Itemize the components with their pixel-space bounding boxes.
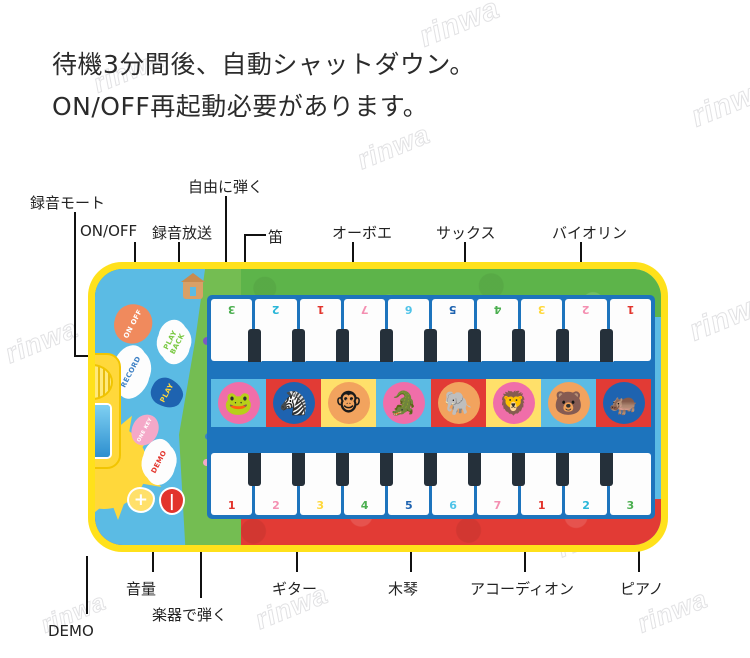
button-volume-up[interactable]: + [127,487,155,513]
callout-violin: バイオリン [552,222,627,243]
callout-volume: 音量 [126,578,156,599]
on-off-label: ON OFF [122,308,144,340]
zebra-guitar-icon: 🦓 [273,382,315,424]
callout-record-mode: 録音モート [30,192,105,213]
black-key[interactable] [292,453,305,486]
play-back-label: PLAY BACK [159,323,189,361]
button-play-back[interactable]: PLAY BACK [153,320,195,364]
callout-oboe: オーボエ [332,222,392,243]
leader-demo [86,556,88,614]
black-key[interactable] [556,329,569,362]
key-number: 1 [300,303,341,316]
headline-line-1: 待機3分間後、自動シャットダウン。 [52,44,692,86]
mic-screen [95,403,112,459]
key-number: 7 [477,499,518,512]
callout-xylophone: 木琴 [388,578,418,599]
white-key[interactable]: 3 [300,453,341,515]
black-key[interactable] [424,453,437,486]
headline: 待機3分間後、自動シャットダウン。 ON/OFF再起動必要があります。 [52,44,692,128]
volume-down-label: | [169,497,175,505]
volume-up-label: + [134,496,149,504]
black-key[interactable] [292,329,305,362]
keyboard-row-top[interactable]: 3217654321 [211,299,651,361]
white-key[interactable]: 1 [300,299,341,361]
bear-violin-icon: 🐻 [548,382,590,424]
key-number: 1 [211,499,252,512]
piano-mat[interactable]: ON OFF PLAY BACK RECORD PLAY ONE KEY DEM… [88,262,668,552]
callout-free-play: 自由に弾く [188,176,263,197]
demo-label: DEMO [150,449,169,475]
elephant-sax-icon: 🐘 [438,382,480,424]
black-key[interactable] [512,453,525,486]
key-number: 1 [610,303,651,316]
black-key[interactable] [424,329,437,362]
white-key[interactable]: 2 [255,453,296,515]
white-key[interactable]: 3 [211,299,252,361]
record-label: RECORD [119,355,142,389]
black-key[interactable] [600,329,613,362]
instrument-pad-bear-violin[interactable]: 🐻 [541,379,596,427]
black-key[interactable] [380,329,393,362]
key-number: 3 [610,499,651,512]
mic-grill [95,364,113,400]
black-key[interactable] [468,453,481,486]
instrument-strip[interactable]: 🐸🦓🐵🐊🐘🦁🐻🦛 [211,379,651,427]
keyboard-row-bottom[interactable]: 1234567123 [211,453,651,515]
black-key[interactable] [600,453,613,486]
white-key[interactable]: 1 [211,453,252,515]
black-key[interactable] [512,329,525,362]
callout-record-playback: 録音放送 [152,222,212,243]
black-key[interactable] [336,453,349,486]
leader-record-mode [74,212,76,356]
leader-flute [244,234,266,236]
key-number: 3 [300,499,341,512]
callout-play-instrument: 楽器で弾く [152,604,227,625]
callout-demo: DEMO [48,622,94,640]
key-number: 5 [388,499,429,512]
infographic-root: rinwa rinwa rinwa rinwa rinwa rinwa rinw… [0,0,750,658]
watermark: rinwa [687,72,750,135]
watermark: rinwa [685,286,750,349]
key-number: 6 [432,499,473,512]
key-number: 2 [565,303,606,316]
button-on-off[interactable]: ON OFF [107,297,159,350]
headline-line-2: ON/OFF再起動必要があります。 [52,86,692,128]
instrument-pad-zebra-guitar[interactable]: 🦓 [266,379,321,427]
sun-ray [111,501,125,520]
white-key[interactable]: 1 [610,299,651,361]
key-number: 2 [565,499,606,512]
instrument-pad-elephant-sax[interactable]: 🐘 [431,379,486,427]
button-volume-down[interactable]: | [159,487,185,515]
callout-sax: サックス [436,222,496,243]
key-number: 7 [344,303,385,316]
monkey-oboe-icon: 🐵 [328,382,370,424]
key-number: 5 [432,303,473,316]
callout-guitar: ギター [272,578,317,599]
white-key[interactable]: 2 [255,299,296,361]
key-number: 4 [344,499,385,512]
microphone-unit[interactable] [95,353,121,469]
black-key[interactable] [336,329,349,362]
callout-piano: ピアノ [620,578,664,599]
instrument-pad-monkey-oboe[interactable]: 🐵 [321,379,376,427]
key-number: 6 [388,303,429,316]
watermark: rinwa [1,313,83,370]
white-key[interactable]: 7 [344,299,385,361]
white-key[interactable]: 3 [610,453,651,515]
callout-accordion: アコーディオン [470,578,574,599]
instrument-pad-lion-accordion[interactable]: 🦁 [486,379,541,427]
key-number: 4 [477,303,518,316]
play-label: PLAY [159,382,176,404]
black-key[interactable] [248,329,261,362]
black-key[interactable] [468,329,481,362]
crocodile-xylophone-icon: 🐊 [383,382,425,424]
key-number: 1 [521,499,562,512]
instrument-pad-frog-flute[interactable]: 🐸 [211,379,266,427]
key-number: 3 [521,303,562,316]
key-number: 2 [255,499,296,512]
instrument-pad-crocodile-xylophone[interactable]: 🐊 [376,379,431,427]
black-key[interactable] [556,453,569,486]
black-key[interactable] [380,453,393,486]
key-number: 3 [211,303,252,316]
mat-surface: ON OFF PLAY BACK RECORD PLAY ONE KEY DEM… [95,269,661,545]
white-key[interactable]: 4 [344,453,385,515]
callout-on-off: ON/OFF [80,222,137,240]
instrument-pad-hippo-piano[interactable]: 🦛 [596,379,651,427]
callout-flute: 笛 [268,226,283,247]
frog-flute-icon: 🐸 [218,382,260,424]
key-number: 2 [255,303,296,316]
sun-ray [95,496,106,519]
house-icon [183,279,203,299]
black-key[interactable] [248,453,261,486]
hippo-piano-icon: 🦛 [603,382,645,424]
button-play[interactable]: PLAY [146,373,187,413]
one-key-label: ONE KEY [135,416,155,443]
lion-accordion-icon: 🦁 [493,382,535,424]
